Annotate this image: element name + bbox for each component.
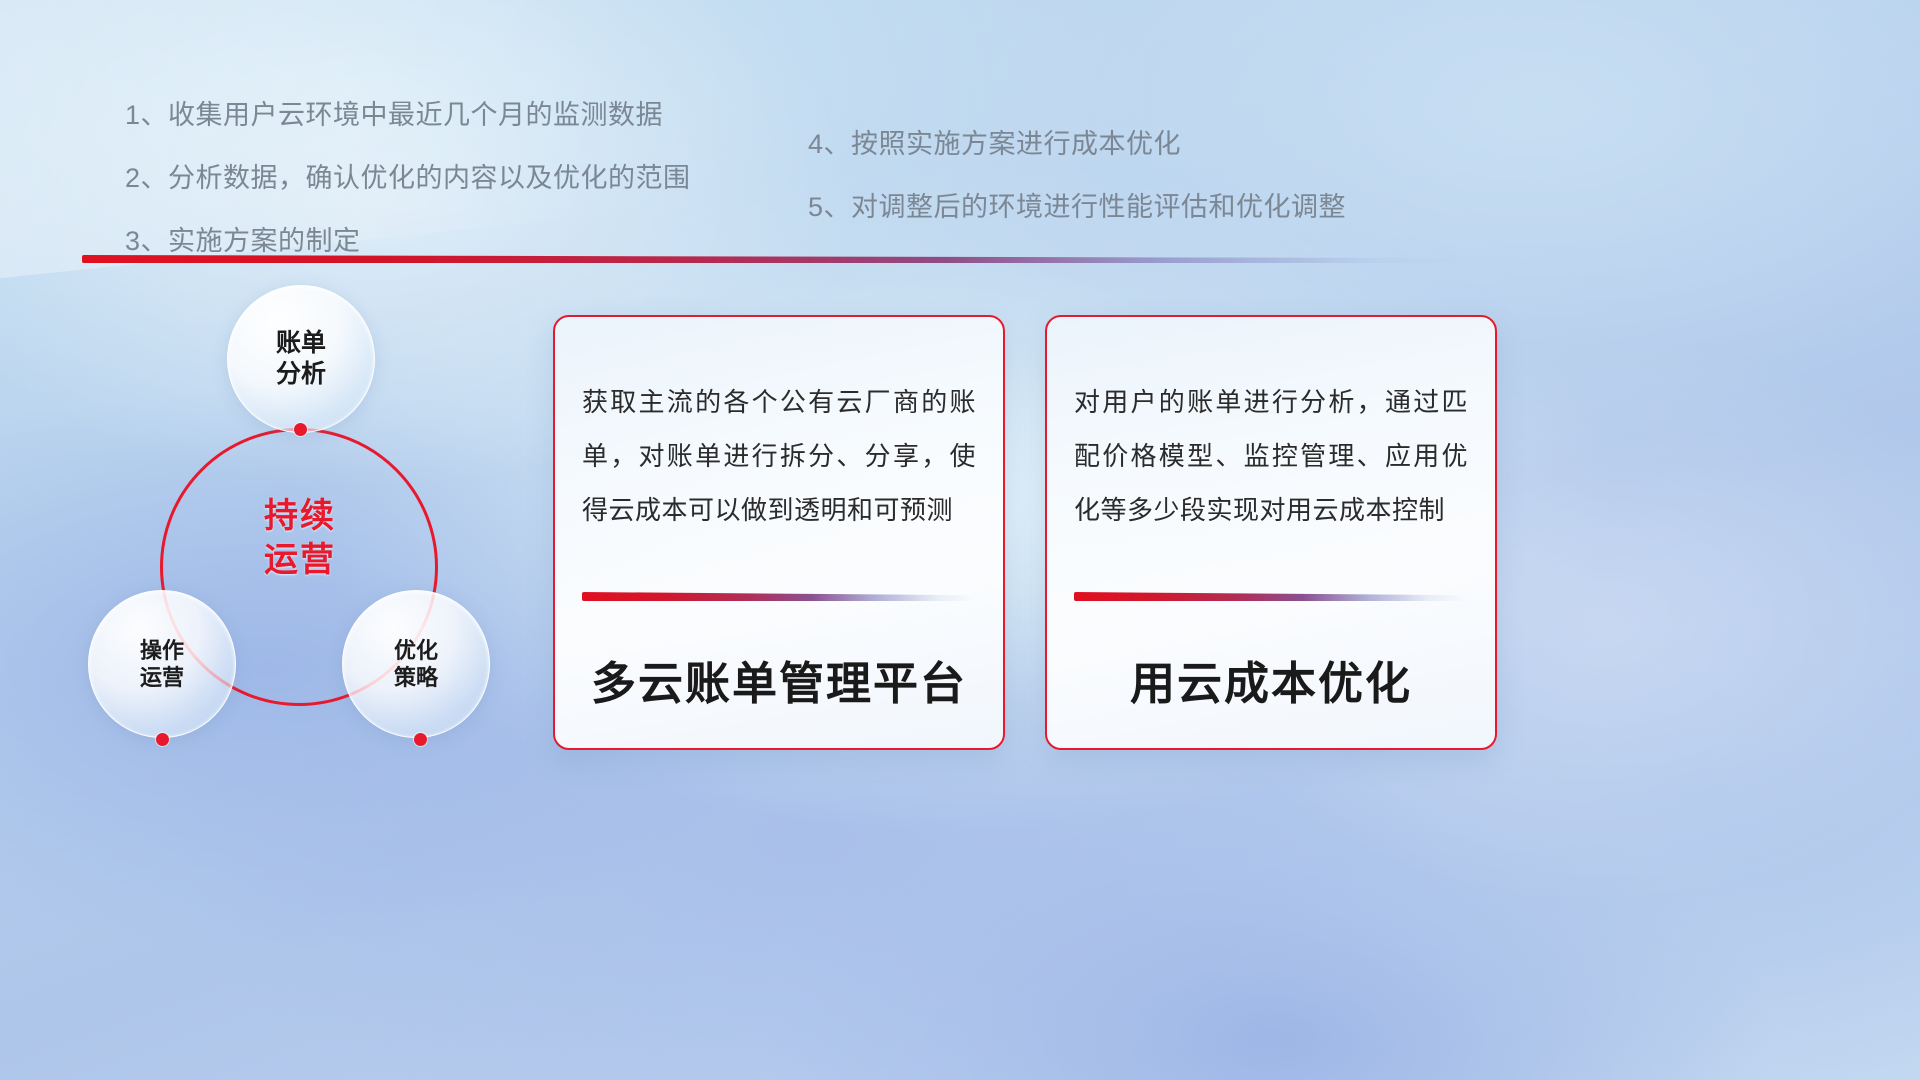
diagram-node-operation[interactable]: 操作 运营 — [88, 590, 236, 738]
step-item-5: 5、对调整后的环境进行性能评估和优化调整 — [808, 185, 1346, 224]
step-item-3: 3、实施方案的制定 — [125, 219, 691, 258]
card-cloud-cost-optimization[interactable]: 对用户的账单进行分析，通过匹配价格模型、监控管理、应用优化等多少段实现对用云成本… — [1045, 315, 1497, 750]
diagram-node-optimization-strategy[interactable]: 优化 策略 — [342, 590, 490, 738]
diagram-center-label: 持续 运营 — [185, 495, 415, 582]
step-list-right: 4、按照实施方案进行成本优化 5、对调整后的环境进行性能评估和优化调整 — [808, 122, 1346, 248]
card-title: 用云成本优化 — [1047, 647, 1495, 712]
connector-dot-left-icon — [156, 733, 169, 746]
card-accent-bar — [1074, 592, 1468, 601]
node-label-line-2: 策略 — [394, 664, 438, 692]
node-label-line-2: 运营 — [140, 664, 184, 692]
step-item-1: 1、收集用户云环境中最近几个月的监测数据 — [125, 93, 691, 132]
step-item-2: 2、分析数据，确认优化的内容以及优化的范围 — [125, 156, 691, 195]
card-title: 多云账单管理平台 — [555, 647, 1003, 712]
node-label-line-1: 操作 — [140, 637, 184, 665]
card-multi-cloud-billing[interactable]: 获取主流的各个公有云厂商的账单，对账单进行拆分、分享，使得云成本可以做到透明和可… — [553, 315, 1005, 750]
card-accent-bar — [582, 592, 976, 601]
card-body-text: 对用户的账单进行分析，通过匹配价格模型、监控管理、应用优化等多少段实现对用云成本… — [1074, 375, 1468, 537]
step-list-left: 1、收集用户云环境中最近几个月的监测数据 2、分析数据，确认优化的内容以及优化的… — [125, 93, 691, 282]
step-item-4: 4、按照实施方案进行成本优化 — [808, 122, 1346, 161]
connector-dot-top-icon — [294, 423, 307, 436]
center-label-line-1: 持续 — [185, 495, 415, 539]
node-label-line-2: 分析 — [276, 359, 326, 390]
center-label-line-2: 运营 — [185, 539, 415, 583]
connector-dot-right-icon — [414, 733, 427, 746]
continuous-operation-diagram: 持续 运营 账单 分析 操作 运营 优化 策略 — [70, 285, 540, 775]
node-label-line-1: 账单 — [276, 328, 326, 359]
card-body-text: 获取主流的各个公有云厂商的账单，对账单进行拆分、分享，使得云成本可以做到透明和可… — [582, 375, 976, 537]
node-label-line-1: 优化 — [394, 637, 438, 665]
diagram-node-billing-analysis[interactable]: 账单 分析 — [227, 285, 375, 433]
